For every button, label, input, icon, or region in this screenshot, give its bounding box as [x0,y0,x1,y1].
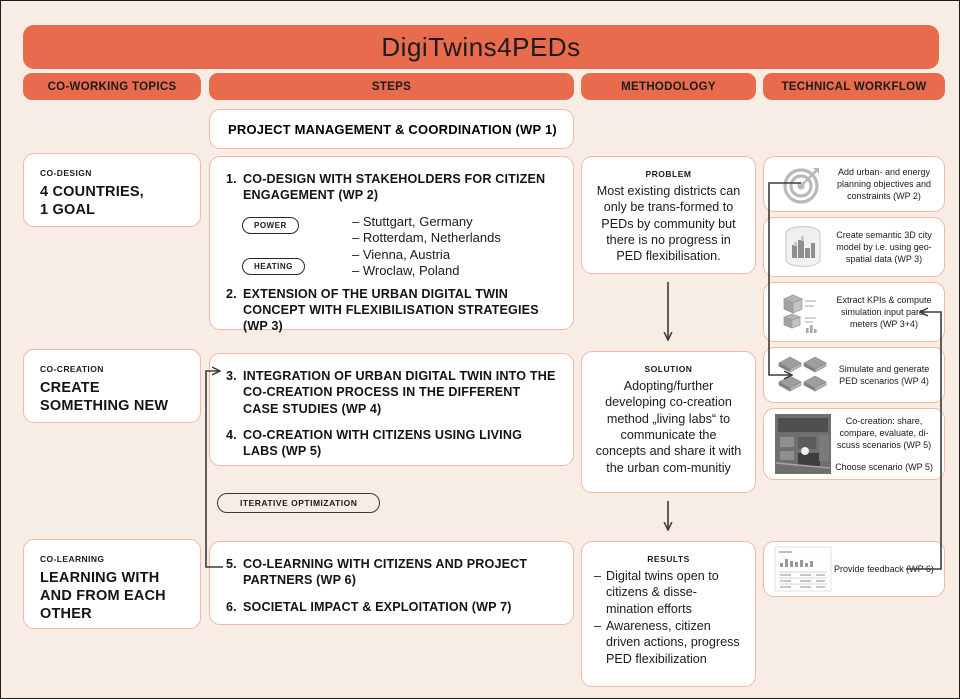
workflow-card-objectives: Add urban- and energy planning objective… [763,156,945,212]
step-wp1-title: PROJECT MANAGEMENT & COORDINATION (WP 1) [228,122,557,137]
city-list: – Stuttgart, Germany – Rotterdam, Nether… [352,214,501,280]
step-number: 1. [226,171,243,204]
step-number: 4. [226,427,243,460]
list-item: – Wroclaw, Poland [352,263,501,280]
result-item: – Awareness, citizen driven actions, pro… [594,618,743,667]
workflow-text: Provide feedback (WP 6) [834,563,934,575]
workflow-text-secondary: Choose scenario (WP 5) [834,461,934,473]
iterative-optimization-pill: ITERATIVE OPTIMIZATION [217,493,380,513]
topic-kicker: CO-LEARNING [40,554,184,564]
workflow-text: Add urban- and energy planning objective… [834,166,934,202]
topic-kicker: CO-CREATION [40,364,184,374]
workflow-text: Co-creation: share, compare, evaluate, d… [834,415,934,474]
column-header-steps: STEPS [209,73,574,100]
step-item: 2. EXTENSION OF THE URBAN DIGITAL TWIN C… [226,286,557,335]
workflow-text-primary: Co-creation: share, compare, evaluate, d… [837,416,931,450]
target-icon [772,163,834,205]
topic-headline: LEARNING WITH AND FROM EACH OTHER [40,569,184,623]
steps-card-group-1: 1. CO-DESIGN WITH STAKEHOLDERS FOR CITIZ… [209,156,574,330]
steps-card-group-3: 5. CO-LEARNING WITH CITIZENS AND PROJECT… [209,541,574,625]
step-item: 4. CO-CREATION WITH CITIZENS USING LIVIN… [226,427,557,460]
methodology-body: – Digital twins open to citizens & disse… [594,568,743,667]
methodology-label: PROBLEM [594,169,743,179]
pill-power: POWER [242,217,299,234]
methodology-label: RESULTS [594,554,743,564]
result-item: – Digital twins open to citizens & disse… [594,568,743,617]
list-item: – Stuttgart, Germany [352,214,501,231]
step-text: CO-DESIGN WITH STAKEHOLDERS FOR CITIZEN … [243,171,557,204]
result-text: Awareness, citizen driven actions, progr… [606,618,743,667]
city-model-icon [772,224,834,270]
result-dash: – [594,568,606,617]
workflow-card-scenarios: Simulate and generate PED scenarios (WP … [763,347,945,403]
step-text: CO-LEARNING WITH CITIZENS AND PROJECT PA… [243,556,557,589]
report-icon [772,548,834,590]
workflow-card-city-model: Create semantic 3D city model by i.e. us… [763,217,945,277]
step-item: 1. CO-DESIGN WITH STAKEHOLDERS FOR CITIZ… [226,171,557,204]
methodology-body: Most existing districts can only be tran… [594,183,743,265]
topic-card-co-design: CO-DESIGN 4 COUNTRIES, 1 GOAL [23,153,201,227]
step-item: 6. SOCIETAL IMPACT & EXPLOITATION (WP 7) [226,599,557,615]
column-header-methodology: METHODOLOGY [581,73,756,100]
steps-card-group-2: 3. INTEGRATION OF URBAN DIGITAL TWIN INT… [209,353,574,466]
methodology-body: Adopting/further developing co-creation … [594,378,743,476]
step-number: 3. [226,368,243,417]
methodology-card-problem: PROBLEM Most existing districts can only… [581,156,756,274]
diagram-title: DigiTwins4PEDs [23,25,939,69]
list-item: – Rotterdam, Netherlands [352,230,501,247]
step-number: 5. [226,556,243,589]
step-text: EXTENSION OF THE URBAN DIGITAL TWIN CONC… [243,286,557,335]
step-card-project-management: PROJECT MANAGEMENT & COORDINATION (WP 1) [209,109,574,149]
topic-headline: 4 COUNTRIES, 1 GOAL [40,183,184,219]
step-number: 2. [226,286,243,335]
step-item: 5. CO-LEARNING WITH CITIZENS AND PROJECT… [226,556,557,589]
kpi-blocks-icon [772,289,834,335]
methodology-card-solution: SOLUTION Adopting/further developing co-… [581,351,756,493]
workflow-text: Extract KPIs & compute simulation input … [834,294,934,330]
topic-kicker: CO-DESIGN [40,168,184,178]
workflow-text: Create semantic 3D city model by i.e. us… [834,229,934,265]
step-text: CO-CREATION WITH CITIZENS USING LIVING L… [243,427,557,460]
result-dash: – [594,618,606,667]
list-item: – Vienna, Austria [352,247,501,264]
scenarios-icon [772,354,834,396]
step-item: 3. INTEGRATION OF URBAN DIGITAL TWIN INT… [226,368,557,417]
diagram-canvas: DigiTwins4PEDs CO-WORKING TOPICS STEPS M… [0,0,960,699]
step-text: SOCIETAL IMPACT & EXPLOITATION (WP 7) [243,599,557,615]
topic-card-co-learning: CO-LEARNING LEARNING WITH AND FROM EACH … [23,539,201,629]
aerial-photo-icon [772,415,834,473]
topic-card-co-creation: CO-CREATION CREATE SOMETHING NEW [23,349,201,423]
column-header-technical-workflow: TECHNICAL WORKFLOW [763,73,945,100]
pill-heating: HEATING [242,258,305,275]
workflow-card-feedback: Provide feedback (WP 6) [763,541,945,597]
topic-headline: CREATE SOMETHING NEW [40,379,184,415]
energy-modes-block: POWER HEATING – Stuttgart, Germany – Rot… [242,214,557,280]
column-header-topics: CO-WORKING TOPICS [23,73,201,100]
methodology-label: SOLUTION [594,364,743,374]
workflow-card-kpis: Extract KPIs & compute simulation input … [763,282,945,342]
workflow-card-co-creation: Co-creation: share, compare, evaluate, d… [763,408,945,480]
methodology-card-results: RESULTS – Digital twins open to citizens… [581,541,756,687]
workflow-text: Simulate and generate PED scenarios (WP … [834,363,934,387]
result-text: Digital twins open to citizens & disse-m… [606,568,743,617]
step-text: INTEGRATION OF URBAN DIGITAL TWIN INTO T… [243,368,557,417]
step-number: 6. [226,599,243,615]
